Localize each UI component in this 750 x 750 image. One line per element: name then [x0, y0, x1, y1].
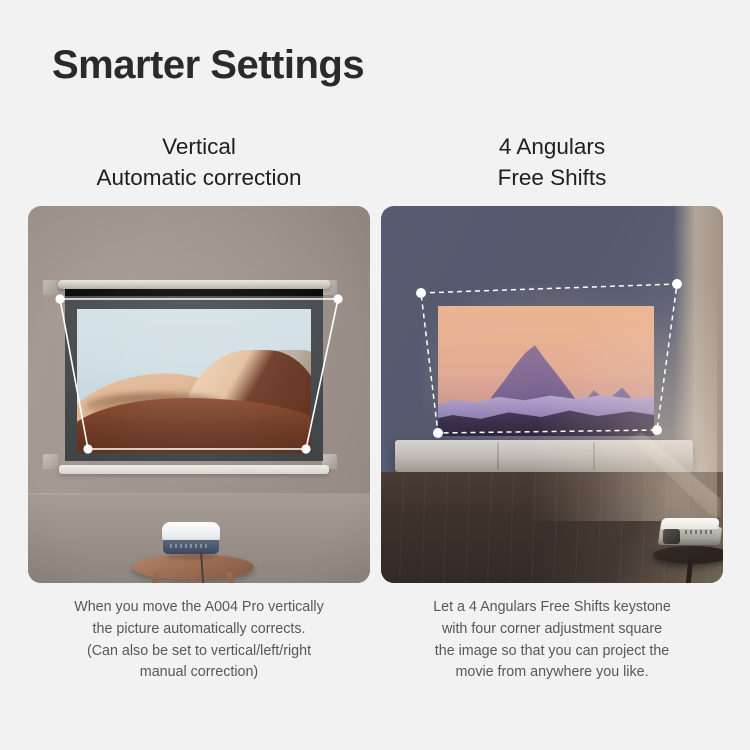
column-heading-right-line2: Free Shifts [381, 163, 723, 194]
caption-left-line2: the picture automatically corrects. [28, 619, 370, 641]
caption-right-line4: movie from anywhere you like. [381, 662, 723, 684]
caption-left-line4: manual correction) [28, 662, 370, 684]
feature-column-4-angulars-free-shifts: 4 Angulars Free Shifts [381, 132, 723, 684]
keystone-handle-bottom-right[interactable] [652, 425, 662, 435]
column-heading-left-line2: Automatic correction [28, 163, 370, 194]
keystone-handle-top-left[interactable] [416, 288, 426, 298]
page-title: Smarter Settings [52, 42, 364, 88]
caption-left-line3: (Can also be set to vertical/left/right [28, 641, 370, 663]
projector-device-right [659, 518, 721, 550]
projector-vent-right [685, 530, 716, 534]
projector-vent-left [170, 544, 210, 548]
projector-device-left [162, 522, 220, 556]
keystone-dashed-path [421, 284, 677, 433]
keystone-handle-bottom-left[interactable] [433, 428, 443, 438]
feature-column-vertical-automatic-correction: Vertical Automatic correction [28, 132, 370, 684]
keystone-handle-bottom-right[interactable] [301, 445, 310, 454]
keystone-handle-top-right[interactable] [333, 295, 342, 304]
keystone-handle-top-right[interactable] [672, 279, 682, 289]
projector-body-top-right [660, 518, 720, 529]
keystone-handle-bottom-left[interactable] [83, 445, 92, 454]
projector-lens-right [663, 529, 680, 544]
keystone-handle-top-left[interactable] [55, 295, 64, 304]
caption-right-line1: Let a 4 Angulars Free Shifts keystone [381, 597, 723, 619]
feature-image-left [28, 206, 370, 583]
keystone-trapezoid-path [60, 299, 338, 449]
side-table-leg-center [190, 574, 195, 583]
caption-right: Let a 4 Angulars Free Shifts keystone wi… [381, 597, 723, 684]
caption-right-line2: with four corner adjustment square [381, 619, 723, 641]
caption-left-line1: When you move the A004 Pro vertically [28, 597, 370, 619]
column-heading-left: Vertical Automatic correction [28, 132, 370, 193]
feature-image-right [381, 206, 723, 583]
console-seam-1 [497, 442, 499, 470]
projector-body-upper-left [162, 522, 220, 540]
column-heading-right-line1: 4 Angulars [381, 132, 723, 163]
column-heading-left-line1: Vertical [28, 132, 370, 163]
console-seam-2 [593, 442, 595, 470]
caption-right-line3: the image so that you can project the [381, 641, 723, 663]
column-heading-right: 4 Angulars Free Shifts [381, 132, 723, 193]
caption-left: When you move the A004 Pro vertically th… [28, 597, 370, 684]
